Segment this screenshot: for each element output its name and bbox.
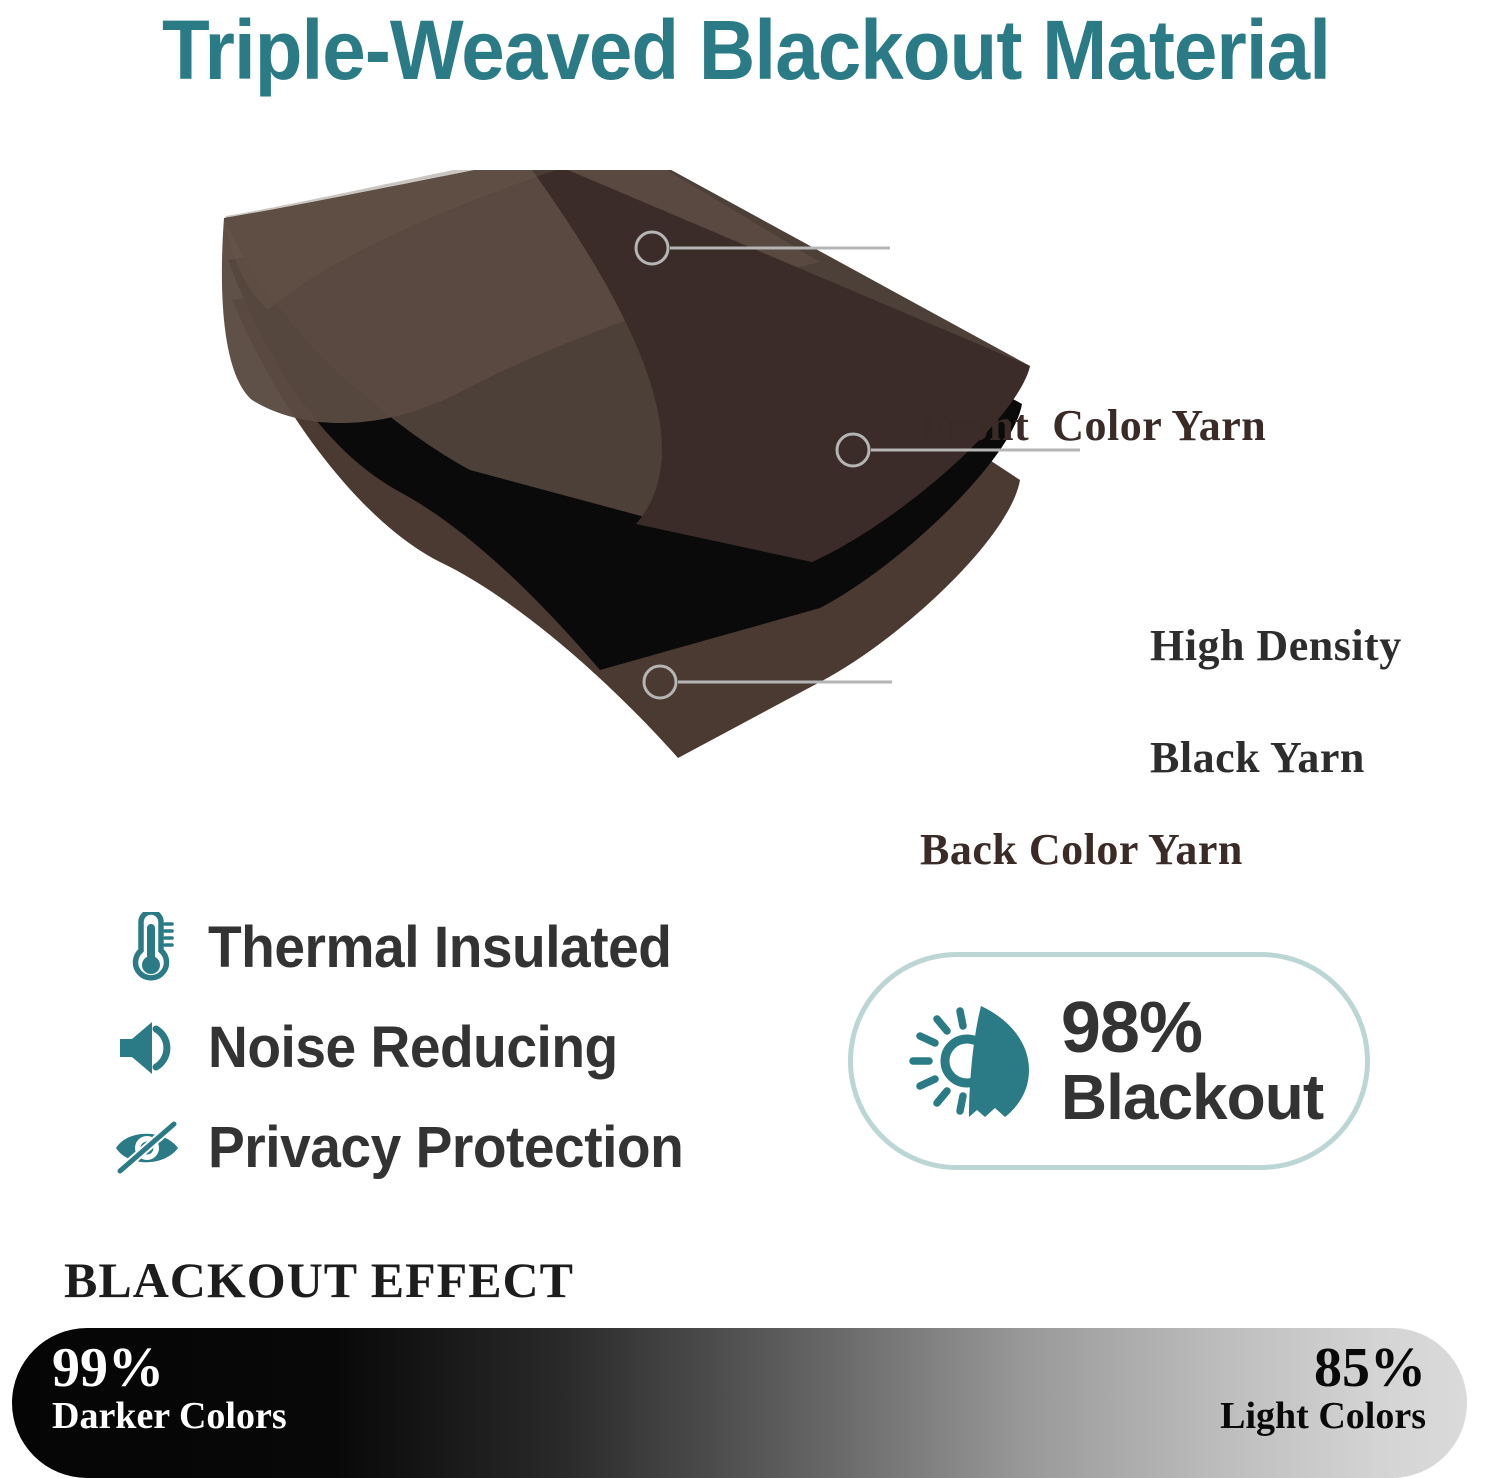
feature-item-thermal: Thermal Insulated xyxy=(112,900,812,996)
label-middle-line1: High Density xyxy=(1150,621,1402,670)
label-front-color-yarn: Front Color Yarn xyxy=(920,398,1266,454)
blackout-effect-light-end: 85% Light Colors xyxy=(1220,1340,1426,1436)
eye-off-icon xyxy=(112,1111,184,1185)
feature-label-thermal: Thermal Insulated xyxy=(208,917,671,979)
blackout-word: Blackout xyxy=(1061,1065,1323,1130)
fabric-layers-diagram: Front Color Yarn High Density Black Yarn… xyxy=(0,170,1492,830)
dark-end-percent: 99% xyxy=(52,1340,287,1397)
speaker-volume-icon xyxy=(112,1011,184,1085)
feature-list: Thermal Insulated Noise Reducing Privacy… xyxy=(112,900,812,1200)
feature-item-noise: Noise Reducing xyxy=(112,1000,812,1096)
blackout-badge-text: 98% Blackout xyxy=(1061,992,1323,1131)
feature-label-privacy: Privacy Protection xyxy=(208,1117,683,1179)
feature-item-privacy: Privacy Protection xyxy=(112,1100,812,1196)
blackout-effect-heading: BLACKOUT EFFECT xyxy=(64,1252,574,1308)
sun-behind-curtain-icon xyxy=(895,986,1045,1136)
light-end-label: Light Colors xyxy=(1220,1397,1426,1436)
light-end-percent: 85% xyxy=(1220,1340,1426,1397)
label-middle-line2: Black Yarn xyxy=(1150,733,1365,782)
thermometer-icon xyxy=(112,911,184,985)
dark-end-label: Darker Colors xyxy=(52,1397,287,1436)
page-title: Triple-Weaved Blackout Material xyxy=(52,2,1440,98)
feature-label-noise: Noise Reducing xyxy=(208,1017,618,1079)
blackout-percent: 98% xyxy=(1061,992,1323,1065)
label-high-density-black-yarn: High Density Black Yarn xyxy=(1104,562,1402,842)
blackout-badge: 98% Blackout xyxy=(848,952,1370,1170)
blackout-effect-dark-end: 99% Darker Colors xyxy=(52,1340,287,1436)
label-back-color-yarn: Back Color Yarn xyxy=(920,822,1243,878)
